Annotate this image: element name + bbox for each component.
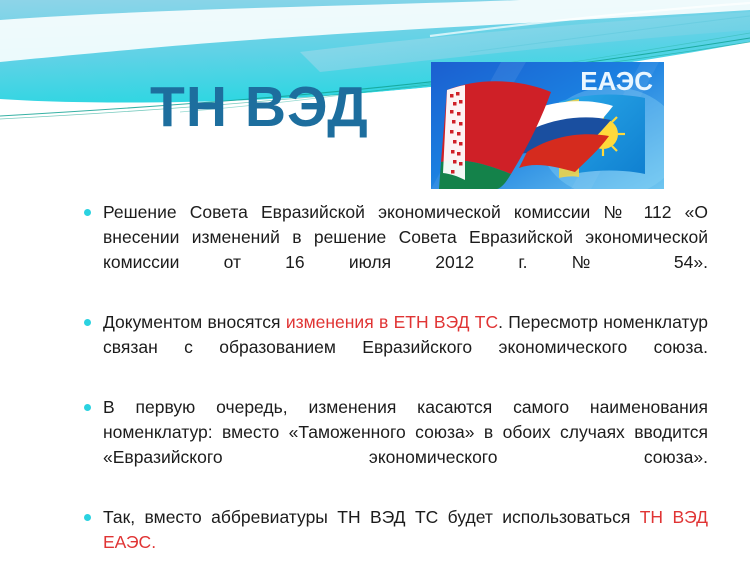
list-item: В первую очередь, изменения касаются сам… — [78, 395, 708, 495]
list-item: Так, вместо аббревиатуры ТН ВЭД ТС будет… — [78, 505, 708, 562]
list-item: Решение Совета Евразийской экономической… — [78, 200, 708, 300]
bullet-list: Решение Совета Евразийской экономической… — [78, 200, 708, 562]
bullet-dot-icon — [84, 514, 91, 521]
bullet-dot-icon — [84, 404, 91, 411]
eaeu-flags-logo: ЕАЭС — [431, 62, 664, 189]
eaeu-caption: ЕАЭС — [580, 66, 653, 96]
bullet-3-text: В первую очередь, изменения касаются сам… — [103, 395, 708, 495]
bullet-1-text: Решение Совета Евразийской экономической… — [103, 200, 708, 300]
slide-title: ТН ВЭД — [150, 78, 369, 138]
presentation-slide: ТН ВЭД — [0, 0, 750, 562]
bullet-dot-icon — [84, 319, 91, 326]
list-item: Документом вносятся изменения в ЕТН ВЭД … — [78, 310, 708, 385]
bullet-2-text: Документом вносятся изменения в ЕТН ВЭД … — [103, 310, 708, 385]
highlight-text: изменения в ЕТН ВЭД ТС — [286, 312, 498, 332]
bullet-4-text: Так, вместо аббревиатуры ТН ВЭД ТС будет… — [103, 505, 708, 562]
bullet-dot-icon — [84, 209, 91, 216]
